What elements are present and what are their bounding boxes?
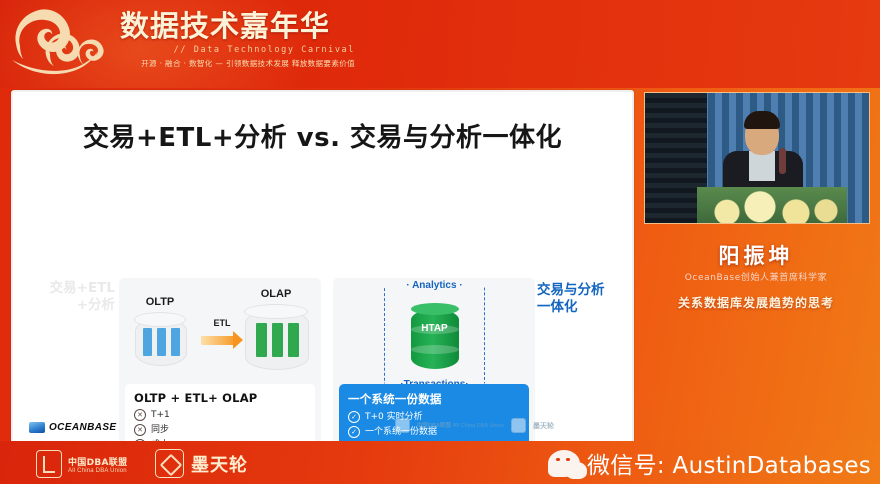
- wechat-handle: 微信号: AustinDatabases: [587, 446, 871, 480]
- etl-arrow-shaft: [201, 336, 235, 345]
- list-item-label: 同步: [151, 423, 169, 437]
- event-title-en: // Data Technology Carnival: [120, 45, 355, 55]
- speaker-photo: [644, 92, 870, 224]
- event-brand: 数据技术嘉年华 // Data Technology Carnival 开源 ·…: [120, 8, 355, 84]
- dba-union-cn: 中国DBA联盟: [417, 423, 452, 429]
- oceanbase-mark-icon: [29, 422, 45, 433]
- oceanbase-logo-text: OCEANBASE: [49, 422, 117, 433]
- motianlun-icon: [155, 449, 184, 478]
- oltp-bar: [143, 328, 152, 356]
- slide-title: 交易+ETL+分析 vs. 交易与分析一体化: [13, 117, 632, 154]
- dba-union-mark-icon: [395, 418, 410, 433]
- oceanbase-logo: OCEANBASE: [29, 422, 117, 433]
- list-item: ✕ 同步: [134, 423, 306, 437]
- check-icon: ✓: [348, 426, 360, 438]
- right-side-label: 交易与分析一体化: [537, 282, 629, 316]
- motianlun-mark-icon: [511, 418, 526, 433]
- presentation-slide: 交易+ETL+分析 vs. 交易与分析一体化 交易+ETL+分析 交易与分析一体…: [11, 90, 634, 445]
- event-subtitle-cn: 开源 · 融合 · 数智化 — 引领数据技术发展 释放数据要素价值: [120, 58, 355, 69]
- left-card-heading: OLTP + ETL+ OLAP: [134, 391, 306, 405]
- speaker-panel: 阳振坤 OceanBase创始人兼首席科学家 关系数据库发展趋势的思考: [640, 90, 872, 441]
- dba-union-en-label: All China DBA Union: [68, 468, 127, 474]
- event-title-cn: 数据技术嘉年华: [120, 8, 355, 44]
- oltp-cylinder: OLTP: [135, 312, 185, 358]
- bottom-bar: 中国DBA联盟 All China DBA Union 墨天轮 微信号: Aus…: [0, 441, 880, 484]
- motianlun-logo: 墨天轮: [155, 449, 248, 478]
- list-item: ✕ T+1: [134, 408, 306, 422]
- htap-cylinder: HTAP: [411, 303, 459, 369]
- etl-arrow-head: [233, 331, 243, 349]
- olap-bar: [256, 323, 267, 358]
- motianlun-label: 墨天轮: [191, 451, 248, 477]
- dba-union-logo: 中国DBA联盟 All China DBA Union: [36, 450, 127, 478]
- oltp-bar: [157, 328, 166, 356]
- wechat-icon: [548, 450, 580, 477]
- dba-union-en: All China DBA Union: [453, 423, 504, 429]
- slide-partner-logos: 中国DBA联盟 All China DBA Union 墨天轮: [395, 418, 554, 433]
- speaker-name: 阳振坤: [640, 240, 872, 270]
- oltp-bar: [171, 328, 180, 356]
- motianlun-logo-text: 墨天轮: [533, 421, 554, 431]
- list-item-label: T+1: [151, 408, 170, 422]
- dba-union-logo-text: 中国DBA联盟 All China DBA Union: [417, 423, 504, 429]
- olap-bar: [288, 323, 299, 358]
- cross-icon: ✕: [134, 409, 146, 421]
- dba-union-text: 中国DBA联盟 All China DBA Union: [68, 455, 127, 474]
- event-banner: 数据技术嘉年华 // Data Technology Carnival 开源 ·…: [0, 0, 880, 88]
- check-icon: ✓: [348, 411, 360, 423]
- left-diagram-panel: OLTP ETL OLAP: [119, 278, 321, 445]
- etl-label: ETL: [199, 318, 245, 328]
- dba-union-cn-label: 中国DBA联盟: [68, 455, 127, 468]
- etl-arrow-group: ETL: [199, 320, 245, 354]
- htap-label: HTAP: [411, 323, 459, 335]
- oltp-etl-olap-diagram: OLTP ETL OLAP: [119, 290, 321, 378]
- cross-icon: ✕: [134, 424, 146, 436]
- wechat-watermark: 微信号: AustinDatabases: [548, 446, 871, 480]
- analytics-label: · Analytics ·: [385, 280, 484, 291]
- carnival-swirl-emblem: [6, 6, 118, 82]
- speaker-role: OceanBase创始人兼首席科学家: [640, 270, 872, 283]
- oltp-label: OLTP: [135, 296, 185, 308]
- olap-bar: [272, 323, 283, 358]
- olap-cylinder: OLAP: [245, 304, 307, 362]
- left-side-label: 交易+ETL+分析: [31, 280, 115, 314]
- screenshot-root: 数据技术嘉年华 // Data Technology Carnival 开源 ·…: [0, 0, 880, 484]
- right-card-heading: 一个系统一份数据: [348, 391, 520, 407]
- dba-union-icon: [36, 450, 62, 478]
- speaker-topic: 关系数据库发展趋势的思考: [640, 294, 872, 311]
- right-feature-card: 一个系统一份数据 ✓ T+0 实时分析 ✓ 一个系统一份数据 ✓ 行存与列存: [339, 384, 529, 445]
- htap-diagram: · Analytics · HTAP ·Transactions·: [384, 286, 485, 384]
- left-feature-card: OLTP + ETL+ OLAP ✕ T+1 ✕ 同步 ✕ 成本: [125, 384, 315, 445]
- olap-label: OLAP: [245, 288, 307, 300]
